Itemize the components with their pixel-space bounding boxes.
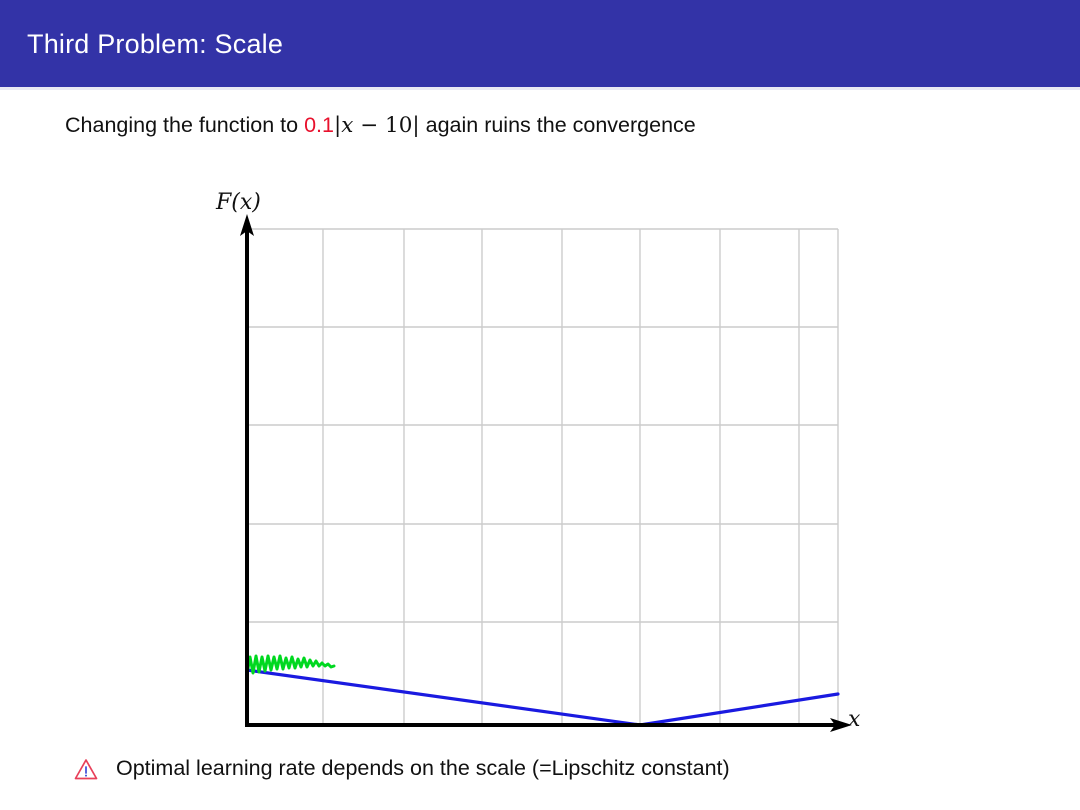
caption-text: Optimal learning rate depends on the sca… — [116, 756, 730, 781]
formula-constant: 10 — [385, 113, 412, 138]
x-axis — [245, 718, 852, 732]
y-axis — [240, 214, 254, 726]
gradient-descent-path — [247, 656, 334, 674]
title-underline — [0, 87, 1080, 90]
formula-minus: − — [353, 113, 385, 138]
function-plot: F(x) x — [200, 180, 880, 750]
lead-sentence: Changing the function to 0.1|x − 10| aga… — [65, 113, 696, 138]
x-axis-label: x — [848, 707, 860, 732]
lead-text-after: again ruins the convergence — [420, 113, 696, 137]
grid-lines — [247, 229, 838, 725]
formula-close-bar: | — [412, 113, 419, 138]
page-title: Third Problem: Scale — [27, 29, 283, 60]
formula-variable: x — [341, 113, 353, 138]
lead-accent-coefficient: 0.1 — [304, 113, 334, 137]
plot-canvas — [200, 180, 880, 750]
lead-text-before: Changing the function to — [65, 113, 304, 137]
y-axis-label: F(x) — [216, 190, 261, 215]
caption-row: Optimal learning rate depends on the sca… — [74, 756, 730, 781]
warning-triangle-icon — [74, 758, 98, 780]
function-curve — [247, 670, 838, 725]
